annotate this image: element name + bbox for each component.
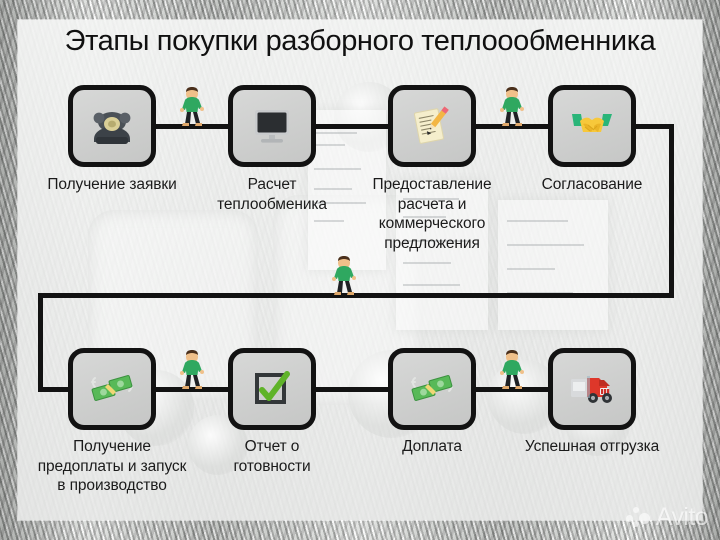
desktop-computer-icon [250,106,294,146]
connector-6-7 [312,387,392,392]
memo-pencil-icon [409,105,455,147]
connector-left-into-5 [38,387,72,392]
step-card-5[interactable] [68,348,156,430]
step-card-2[interactable] [228,85,316,167]
step-label-2: Расчет теплообменика [188,175,356,214]
step-card-8[interactable] [548,348,636,430]
step-card-7[interactable] [388,348,476,430]
walking-person-icon-5 [498,350,526,390]
step-label-8: Успешная отгрузка [508,437,676,457]
money-with-wings-icon-2 [409,370,455,408]
step-card-1[interactable] [68,85,156,167]
step-card-6[interactable] [228,348,316,430]
avito-watermark: Avito [626,503,708,532]
walking-person-icon-2 [498,87,526,127]
telephone-icon [90,106,134,146]
check-box-icon [251,369,293,409]
walking-person-icon-1 [178,87,206,127]
connector-4-right [632,124,674,129]
avito-dots-icon [626,506,650,530]
step-label-5: Получение предоплаты и запуск в производ… [14,437,210,496]
money-with-wings-icon-1 [89,370,135,408]
step-label-4: Согласование [512,175,672,195]
walking-person-icon-4 [178,350,206,390]
step-card-4[interactable] [548,85,636,167]
delivery-truck-icon [569,372,615,406]
step-label-1: Получение заявки [8,175,216,195]
step-card-3[interactable] [388,85,476,167]
connector-2-3 [312,124,392,129]
page-title: Этапы покупки разборного теплоообменника [18,24,702,58]
step-label-3: Предоставление расчета и коммерческого п… [352,175,512,253]
avito-wordmark: Avito [656,503,708,532]
step-label-7: Доплата [372,437,492,457]
ghost-document-c [498,200,608,330]
connector-right-down [669,124,674,298]
connector-left-down [38,293,43,390]
handshake-icon [570,108,614,144]
walking-person-icon-3 [330,256,358,296]
infographic-canvas: Получение заявки Расчет теплообменика [0,0,720,540]
step-label-6: Отчет о готовности [202,437,342,476]
